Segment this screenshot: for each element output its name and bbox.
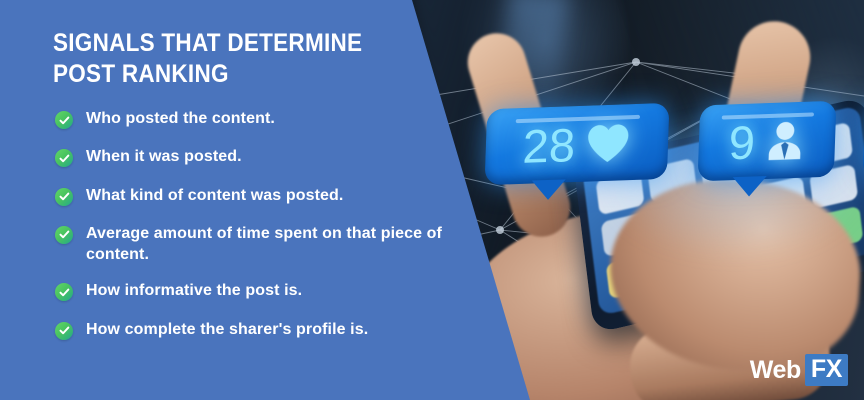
- infographic-canvas: 28 9 16 SIGNALS THAT DETERMINE POST RANK…: [0, 0, 864, 400]
- list-item-label: How complete the sharer's profile is.: [86, 319, 368, 340]
- heart-icon: [584, 121, 632, 165]
- notification-count: 9: [728, 114, 756, 170]
- list-item: Who posted the content.: [55, 108, 445, 129]
- notification-bubble-followers: 9: [698, 101, 837, 182]
- check-circle-icon: [55, 226, 73, 244]
- check-circle-icon: [55, 188, 73, 206]
- check-circle-icon: [55, 149, 73, 167]
- page-title: SIGNALS THAT DETERMINE POST RANKING: [53, 28, 362, 89]
- list-item-label: Average amount of time spent on that pie…: [86, 223, 445, 266]
- check-circle-icon: [55, 322, 73, 340]
- list-item: How informative the post is.: [55, 280, 445, 301]
- notification-count: 28: [522, 117, 576, 174]
- person-icon: [764, 119, 806, 162]
- logo-accent-text: FX: [805, 354, 848, 386]
- list-item: What kind of content was posted.: [55, 185, 445, 206]
- check-circle-icon: [55, 111, 73, 129]
- webfx-logo[interactable]: Web FX: [750, 354, 848, 386]
- list-item: Average amount of time spent on that pie…: [55, 223, 445, 266]
- notification-bubble-likes: 28: [485, 103, 670, 185]
- list-item: When it was posted.: [55, 146, 445, 167]
- list-item-label: What kind of content was posted.: [86, 185, 343, 206]
- list-item-label: How informative the post is.: [86, 280, 302, 301]
- list-item-label: Who posted the content.: [86, 108, 275, 129]
- list-item: How complete the sharer's profile is.: [55, 319, 445, 340]
- logo-primary-text: Web: [750, 356, 805, 385]
- list-item-label: When it was posted.: [86, 146, 242, 167]
- check-circle-icon: [55, 283, 73, 301]
- signals-list: Who posted the content. When it was post…: [55, 108, 445, 357]
